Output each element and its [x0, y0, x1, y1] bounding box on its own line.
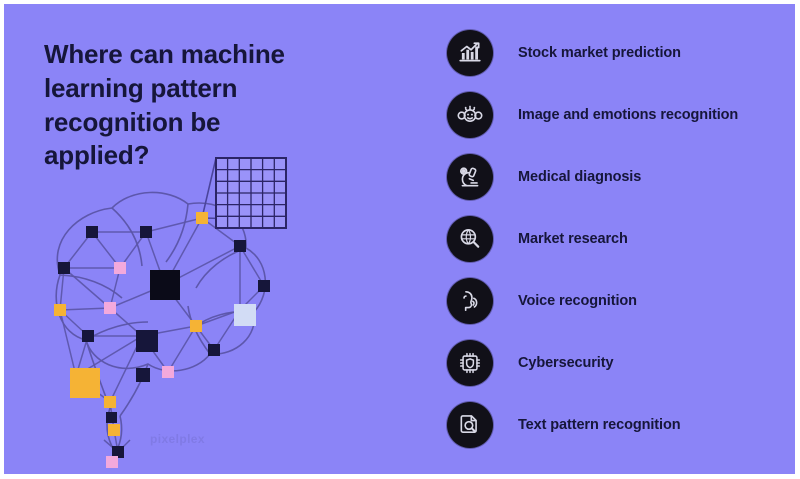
brain-node [104, 396, 116, 408]
brain-node [108, 424, 120, 436]
pattern-matrix-grid [215, 157, 287, 229]
list-item[interactable]: Text pattern recognition [447, 394, 792, 456]
list-item[interactable]: Voice recognition [447, 270, 792, 332]
list-item[interactable]: Image and emotions recognition [447, 84, 792, 146]
brain-nodes [54, 212, 270, 468]
microscope-icon [447, 154, 493, 200]
list-item-label: Medical diagnosis [518, 169, 641, 185]
brain-node [54, 304, 66, 316]
infographic-canvas: Where can machine learning pattern recog… [0, 0, 800, 479]
face-emotion-icon [447, 92, 493, 138]
canvas-edge-top [0, 0, 800, 4]
canvas-edge-right [795, 0, 800, 479]
brain-node [140, 226, 152, 238]
brain-node [82, 330, 94, 342]
brain-node [106, 412, 117, 423]
chip-shield-icon [447, 340, 493, 386]
list-item[interactable]: Market research [447, 208, 792, 270]
list-item-label: Text pattern recognition [518, 417, 680, 433]
brain-node [104, 302, 116, 314]
applications-list: Stock market prediction Image and emotio… [447, 22, 792, 456]
list-item-label: Cybersecurity [518, 355, 613, 371]
brain-node [208, 344, 220, 356]
list-item-label: Image and emotions recognition [518, 107, 738, 123]
brain-node [190, 320, 202, 332]
list-item-label: Voice recognition [518, 293, 637, 309]
page-title-line-1: Where can machine [44, 38, 314, 72]
brain-node [86, 226, 98, 238]
brain-node [136, 368, 150, 382]
list-item-label: Market research [518, 231, 628, 247]
watermark: pixelplex [150, 432, 205, 446]
brain-node [162, 366, 174, 378]
brain-node-light [234, 304, 256, 326]
brain-node [136, 330, 158, 352]
magnifier-globe-icon [447, 216, 493, 262]
document-magnifier-icon [447, 402, 493, 448]
brain-node-large-dark [150, 270, 180, 300]
brain-node [196, 212, 208, 224]
list-item[interactable]: Cybersecurity [447, 332, 792, 394]
voice-profile-icon [447, 278, 493, 324]
brain-node [58, 262, 70, 274]
brain-node [234, 240, 246, 252]
page-title-line-2: learning pattern [44, 72, 314, 106]
brain-node [258, 280, 270, 292]
brain-node [106, 456, 118, 468]
brain-node [114, 262, 126, 274]
canvas-edge-bottom [0, 474, 800, 479]
list-item[interactable]: Medical diagnosis [447, 146, 792, 208]
stock-chart-icon [447, 30, 493, 76]
brain-node-large-amber [70, 368, 100, 398]
page-title-line-3: recognition be [44, 106, 314, 140]
list-item[interactable]: Stock market prediction [447, 22, 792, 84]
list-item-label: Stock market prediction [518, 45, 681, 61]
